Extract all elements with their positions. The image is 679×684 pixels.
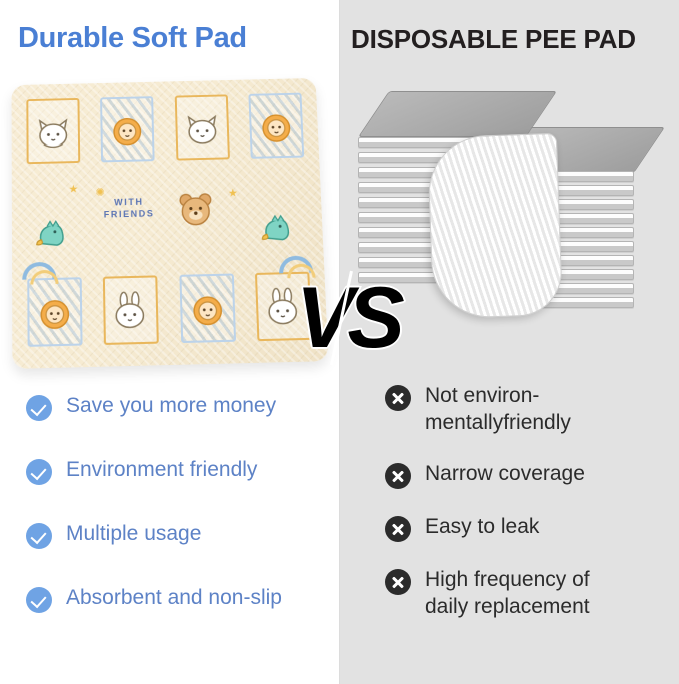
soft-pad-surface: ★ WITH FRIENDS ✺ [12, 78, 329, 369]
draped-pad [427, 133, 563, 319]
dinosaur-icon [252, 205, 300, 252]
disposable-pads-image [352, 85, 670, 365]
x-circle-icon [385, 385, 411, 411]
drawback-line-1: Not environ- [425, 384, 539, 407]
drawback-line-2: daily replacement [425, 593, 590, 620]
feature-label: Save you more money [66, 392, 276, 419]
x-circle-icon [385, 463, 411, 489]
pad-print-line-1: WITH [114, 197, 144, 208]
soft-pad-pattern: ★ WITH FRIENDS ✺ [12, 78, 329, 369]
list-item: Multiple usage [26, 520, 331, 549]
list-item: Narrow coverage [385, 460, 670, 489]
vs-badge: VS [296, 268, 392, 368]
drawback-label: Not environ- mentallyfriendly [425, 382, 571, 436]
list-item: Absorbent and non-slip [26, 584, 331, 613]
pattern-cell [92, 266, 170, 361]
drawback-label: Narrow coverage [425, 460, 585, 487]
rabbit-icon [107, 291, 155, 339]
drawback-line-1: Narrow coverage [425, 462, 585, 485]
pattern-cell [238, 84, 316, 174]
feature-label: Absorbent and non-slip [66, 584, 282, 611]
pattern-cell: ★ [16, 177, 92, 269]
lion-icon [253, 107, 300, 153]
list-item: Environment friendly [26, 456, 331, 485]
bear-icon [172, 187, 219, 234]
drawback-line-1: High frequency of [425, 568, 590, 591]
drawback-line-1: Easy to leak [425, 515, 539, 538]
right-heading: DISPOSABLE PEE PAD [351, 24, 636, 55]
x-circle-icon [385, 516, 411, 542]
comparison-infographic: Durable Soft Pad DISPOSABLE PEE PAD [0, 0, 679, 684]
pad-print-line-2: FRIENDS [104, 209, 155, 220]
feature-label: Environment friendly [66, 456, 257, 483]
soft-pad-image: ★ WITH FRIENDS ✺ [12, 78, 322, 363]
lion-icon [104, 111, 150, 157]
lion-icon [31, 293, 78, 341]
right-feature-list: Not environ- mentallyfriendly Narrow cov… [385, 382, 670, 644]
cat-icon [179, 109, 226, 155]
drawback-label: High frequency of daily replacement [425, 566, 590, 620]
lion-icon [184, 289, 232, 337]
check-circle-icon [26, 587, 52, 613]
star-icon: ★ [228, 188, 238, 199]
sparkle-icon: ✺ [96, 188, 105, 199]
drawback-line-2: mentallyfriendly [425, 409, 571, 436]
pattern-cell [168, 264, 247, 359]
left-heading: Durable Soft Pad [18, 22, 247, 55]
pattern-cell [90, 87, 166, 177]
list-item: Save you more money [26, 392, 331, 421]
star-icon: ★ [68, 185, 78, 196]
dinosaur-icon [28, 211, 74, 258]
list-item: Not environ- mentallyfriendly [385, 382, 670, 436]
check-circle-icon [26, 459, 52, 485]
x-circle-icon [385, 569, 411, 595]
list-item: Easy to leak [385, 513, 670, 542]
pattern-cell [16, 268, 93, 363]
left-feature-list: Save you more money Environment friendly… [26, 392, 331, 648]
pattern-cell: WITH FRIENDS ✺ [91, 176, 168, 268]
pad-print-text: WITH FRIENDS [94, 195, 164, 221]
cat-icon [30, 113, 76, 159]
pattern-cell: ★ [166, 174, 244, 266]
pattern-cell [15, 89, 90, 179]
feature-label: Multiple usage [66, 520, 201, 547]
check-circle-icon [26, 395, 52, 421]
stack-top-face [358, 91, 557, 137]
drawback-label: Easy to leak [425, 513, 539, 540]
pattern-cell [164, 86, 241, 176]
pattern-cell [241, 172, 320, 264]
check-circle-icon [26, 523, 52, 549]
list-item: High frequency of daily replacement [385, 566, 670, 620]
